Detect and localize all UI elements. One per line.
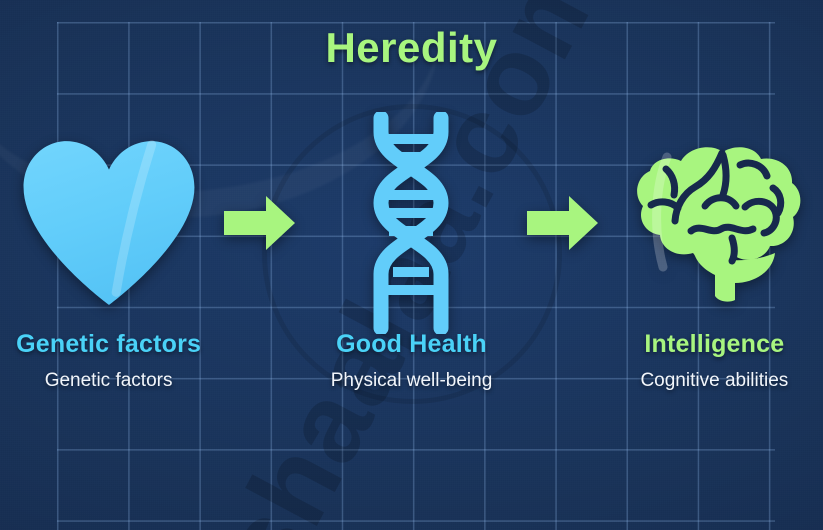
page-title: Heredity <box>0 24 823 72</box>
caption-genetic-factors: Genetic factors Genetic factors <box>0 330 217 392</box>
connector-2 <box>520 130 606 320</box>
brain-icon <box>623 143 805 308</box>
caption-subtitle: Genetic factors <box>0 370 217 392</box>
caption-subtitle: Physical well-being <box>303 370 520 392</box>
caption-heading: Genetic factors <box>0 330 217 359</box>
caption-spacer <box>217 330 303 392</box>
flow-row <box>0 130 823 320</box>
caption-heading: Good Health <box>303 330 520 359</box>
dna-helix-icon <box>359 112 463 339</box>
infographic-canvas: shaalaa.com Heredity <box>0 0 823 530</box>
arrow-right-icon <box>224 195 296 256</box>
heart-icon <box>20 139 198 312</box>
caption-heading: Intelligence <box>606 330 823 359</box>
caption-good-health: Good Health Physical well-being <box>303 330 520 392</box>
stage-intelligence <box>606 130 823 320</box>
connector-1 <box>217 130 303 320</box>
arrow-right-icon <box>527 195 599 256</box>
stage-good-health <box>303 130 520 320</box>
caption-spacer <box>520 330 606 392</box>
caption-subtitle: Cognitive abilities <box>606 370 823 392</box>
captions-row: Genetic factors Genetic factors Good Hea… <box>0 330 823 392</box>
caption-intelligence: Intelligence Cognitive abilities <box>606 330 823 392</box>
stage-genetic-factors <box>0 130 217 320</box>
